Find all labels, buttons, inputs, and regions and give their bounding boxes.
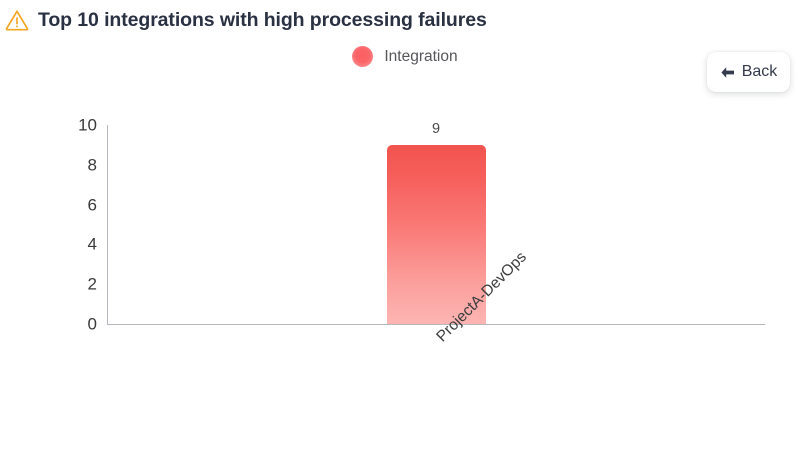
y-axis-tick-label: 0 — [88, 316, 97, 333]
x-axis-line — [107, 324, 765, 325]
y-axis-tick-label: 2 — [88, 276, 97, 293]
y-axis-tick-label: 6 — [88, 196, 97, 213]
bar-value-label: 9 — [432, 122, 440, 137]
y-axis-tick-label: 10 — [78, 117, 97, 134]
y-axis-tick-label: 8 — [88, 156, 97, 173]
plot-area: 10864209 — [107, 125, 765, 324]
y-axis-tick-label: 4 — [88, 236, 97, 253]
bar-chart: 10864209 ProjectA-DevOps — [0, 0, 810, 472]
